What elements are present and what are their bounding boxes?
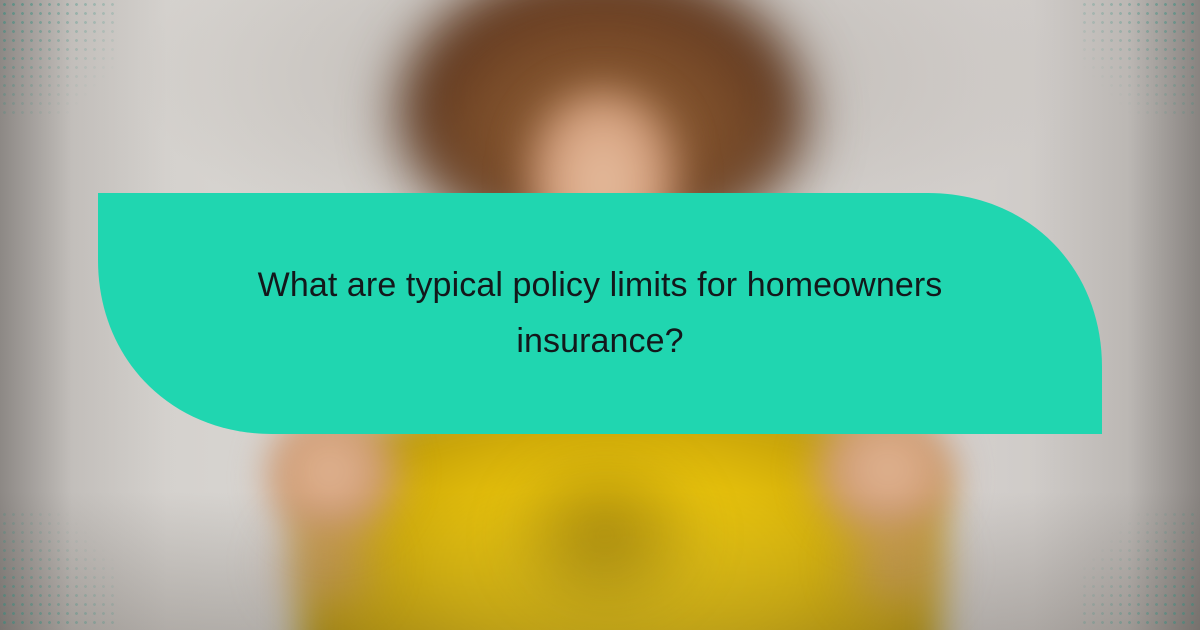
corner-dots-bottom-left: [0, 510, 120, 630]
headline-banner: What are typical policy limits for homeo…: [98, 193, 1102, 434]
corner-dots-bottom-right: [1080, 510, 1200, 630]
corner-dots-top-left: [0, 0, 120, 120]
social-card: What are typical policy limits for homeo…: [0, 0, 1200, 630]
headline-text: What are typical policy limits for homeo…: [170, 258, 1030, 368]
corner-dots-top-right: [1080, 0, 1200, 120]
